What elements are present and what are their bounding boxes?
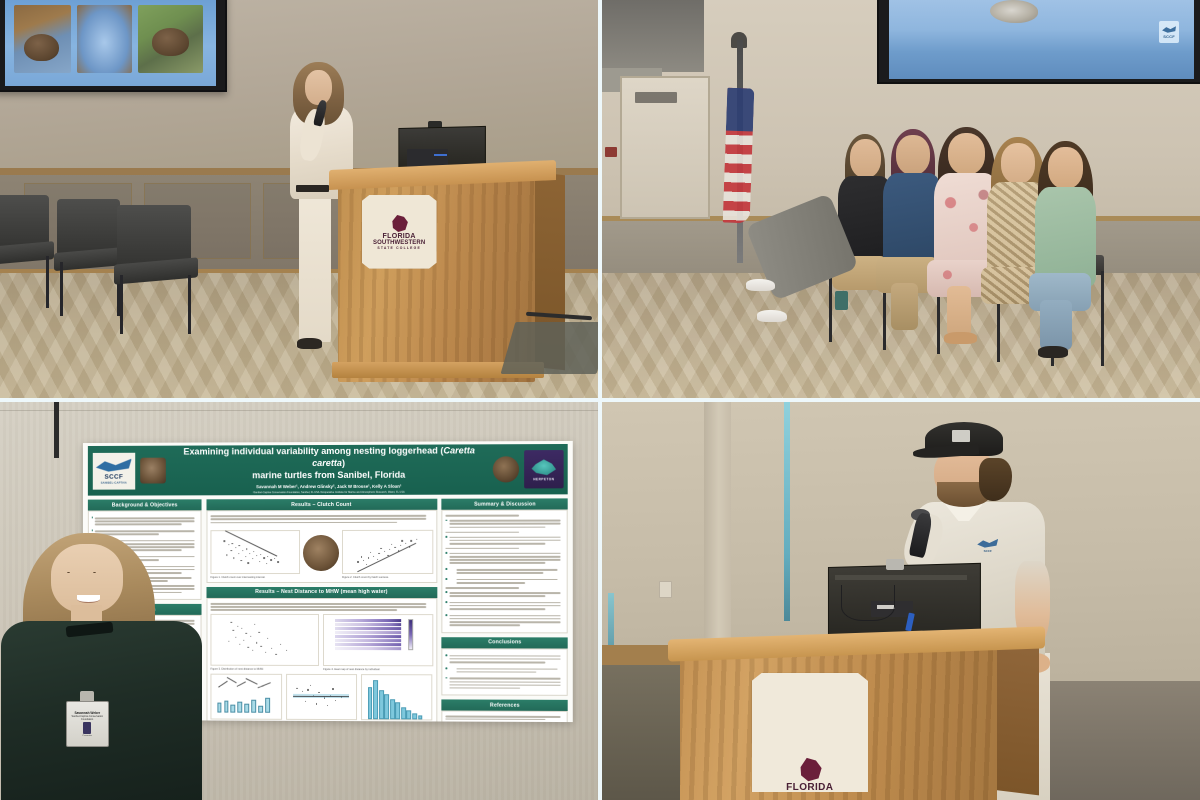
figure-4-caption: Figure 4. Heat map of nest distance by i…	[323, 668, 433, 672]
ceiling-soffit	[602, 0, 704, 72]
poster-authors: Savannah M Weber¹, Andrew Glinsky², Jack…	[170, 484, 487, 490]
microphone-clip	[886, 559, 904, 569]
green-sweater-torso	[1035, 187, 1096, 286]
monitor-bezel	[835, 575, 967, 580]
herpeton-logo: HERPETON	[524, 450, 563, 488]
podium-plaque: FLORIDA SOUTHWESTERN STATE COLLEGE	[362, 195, 437, 269]
sccf-logo: SCCF SANIBEL-CAPTIVA	[92, 452, 135, 489]
projection-screen-frame	[0, 0, 227, 92]
microphone-cable	[841, 585, 895, 621]
figure-3-container: Figure 3. Distribution of nest distance …	[210, 614, 319, 671]
section-header-summary: Summary & Discussion	[441, 498, 567, 509]
sneaker	[757, 310, 787, 322]
projection-screen-frame: SCCF	[877, 0, 1200, 84]
accent-light-strip	[608, 593, 614, 649]
projection-screen-left	[5, 0, 216, 86]
poster-column-middle: Results – Clutch Count	[206, 499, 436, 717]
lecture-room-scene: FLORIDA SOUTHWESTERN STATE COLLEGE	[0, 0, 598, 398]
plaque-florida-text: FLORIDA	[383, 233, 416, 240]
herpeton-logo-text: HERPETON	[533, 477, 554, 481]
accent-light-strip	[784, 402, 790, 621]
photo-panel-top-left: FLORIDA SOUTHWESTERN STATE COLLEGE	[0, 0, 598, 398]
photo-panel-bottom-left: SCCF SANIBEL-CAPTIVA Examining individua…	[0, 402, 598, 800]
wall-column	[704, 402, 731, 641]
panel-discussion-scene: SCCF	[602, 0, 1200, 398]
figure-2-container: Figure 2. Clutch count by hatch success.	[342, 526, 433, 579]
jeans-shin	[1040, 300, 1072, 350]
projection-screen-right: SCCF	[889, 0, 1194, 79]
turtle-icon	[530, 457, 557, 476]
speaker-belt	[296, 185, 329, 192]
section-conclusions: Conclusions	[441, 637, 567, 696]
poster-title-block: Examining individual variability among n…	[166, 446, 493, 495]
cap-logo-icon	[952, 430, 970, 442]
sandal	[944, 332, 977, 344]
poster-column-right: Summary & Discussion	[441, 498, 567, 717]
figure-5-boxplot	[210, 674, 281, 720]
bird-icon	[1162, 25, 1176, 33]
boot	[1038, 346, 1068, 358]
plaque-state-college-text: STATE COLLEGE	[377, 247, 421, 250]
face	[1001, 143, 1035, 184]
poster-title-part1-end: )	[342, 458, 345, 468]
section-header-background: Background & Objectives	[87, 499, 201, 510]
sccf-polo-text: SCCF	[984, 549, 992, 553]
chair-leg	[120, 275, 123, 334]
bird-icon	[96, 457, 132, 473]
bird-icon	[977, 538, 998, 549]
shin	[891, 283, 919, 331]
figure-2-caption: Figure 2. Clutch count by hatch success.	[342, 576, 433, 579]
chair-back	[117, 205, 191, 266]
header-turtle-photo	[140, 458, 166, 484]
buccaneer-mascot-icon	[389, 213, 408, 232]
chair-leg	[1101, 271, 1104, 367]
badge-role-text: Presenter	[83, 735, 92, 737]
slide-image-turtle-dune	[138, 5, 203, 74]
turtle-shape	[152, 28, 189, 55]
presenter-face	[51, 544, 123, 613]
chair-leg	[188, 275, 191, 334]
figure-5-container: Figure 5. Boxplot of nest distance to MH…	[210, 674, 281, 722]
photo-panel-bottom-right: SCCF	[602, 402, 1200, 800]
panelist-5	[1033, 147, 1099, 354]
figure-1-container: Figure 1. Clutch count over internesting…	[210, 526, 300, 579]
figure-4-heatmap	[323, 614, 433, 666]
conference-name-badge: Savannah Weber Sanibel-Captiva Conservat…	[66, 701, 109, 746]
section-clutch-count: Results – Clutch Count	[206, 499, 436, 583]
poster-title-part1: Examining individual variability among n…	[183, 446, 443, 457]
speaker-legs	[299, 191, 331, 342]
poster-board-pole	[54, 402, 59, 458]
sccf-polo-logo: SCCF	[973, 533, 1003, 557]
figure-6-scatter	[285, 674, 356, 720]
sccf-logo-subtext: SANIBEL-CAPTIVA	[100, 482, 126, 485]
united-states-flag-icon	[722, 87, 754, 223]
slide-image-turtle-track	[77, 5, 132, 74]
section-header-clutch-count: Results – Clutch Count	[206, 499, 436, 511]
sccf-logo-text: SCCF	[104, 474, 123, 481]
crossed-leg	[947, 286, 971, 336]
stacking-chair	[0, 195, 54, 306]
section-header-conclusions: Conclusions	[441, 637, 567, 648]
face	[948, 133, 985, 174]
speaker-shoe	[297, 338, 322, 349]
speaker-podium-scene: SCCF	[602, 402, 1200, 800]
section-header-nest-distance: Results – Nest Distance to MHW (mean hig…	[206, 587, 436, 598]
figure-1-caption: Figure 1. Clutch count over internesting…	[210, 576, 300, 579]
light-switch-plate	[659, 581, 672, 598]
section-nest-distance: Results – Nest Distance to MHW (mean hig…	[206, 587, 436, 722]
figure-4-container: Figure 4. Heat map of nest distance by i…	[323, 614, 433, 672]
figure-7-histogram	[361, 674, 433, 720]
section-summary: Summary & Discussion	[441, 498, 567, 633]
section-body-clutch-count: Figure 1. Clutch count over internesting…	[206, 510, 436, 583]
face	[850, 139, 881, 177]
chair-leg	[60, 262, 63, 315]
floor-mat	[501, 322, 598, 374]
center-turtle-photo	[303, 535, 339, 571]
door-sign	[635, 92, 677, 104]
poster-title-line2: marine turtles from Sanibel, Florida	[252, 469, 405, 480]
figure-7-container: Figure 7. Histogram of nest distance fre…	[361, 674, 433, 721]
sneaker	[746, 279, 776, 291]
badge-org-text: Sanibel-Captiva Conservation Foundation	[69, 716, 106, 722]
figure-2-scatter	[342, 530, 433, 574]
status-led	[434, 154, 447, 157]
drink-cup	[835, 291, 848, 311]
poster-title: Examining individual variability among n…	[170, 446, 487, 482]
poster-affiliations: ¹Sanibel-Captiva Conservation Foundation…	[170, 491, 487, 495]
poster-session-scene: SCCF SANIBEL-CAPTIVA Examining individua…	[0, 402, 598, 800]
face	[1048, 147, 1082, 188]
chair-back	[0, 195, 49, 248]
podium-plaque: FLORIDA SOUTHWESTERN STATE COLLEGE	[752, 673, 869, 792]
slide-image-turtle-beach	[14, 5, 71, 74]
plaque-southwestern-text: SOUTHWESTERN	[373, 240, 425, 246]
face	[896, 135, 930, 175]
wall-seam	[0, 410, 598, 411]
photo-panel-top-right: SCCF	[602, 0, 1200, 398]
photo-collage: FLORIDA SOUTHWESTERN STATE COLLEGE	[0, 0, 1200, 800]
figure-1-scatter	[210, 530, 300, 574]
poster-presenter: Savannah Weber Sanibel-Captiva Conservat…	[12, 533, 191, 800]
badge-photo	[83, 722, 91, 734]
sccf-watermark-logo: SCCF	[1159, 21, 1179, 43]
chair-leg	[46, 256, 49, 307]
section-body-nest-distance: Figure 3. Distribution of nest distance …	[206, 598, 436, 722]
section-references: References	[441, 700, 567, 722]
figure-3-scatter	[210, 614, 319, 666]
section-body-conclusions	[441, 648, 567, 696]
sccf-watermark-text: SCCF	[1163, 34, 1175, 39]
presenter-smile	[77, 595, 100, 603]
poster-header: SCCF SANIBEL-CAPTIVA Examining individua…	[87, 444, 567, 496]
section-body-references	[441, 711, 567, 722]
exit-sign	[605, 147, 617, 157]
chair-back	[57, 199, 120, 254]
header-turtle-photo-2	[492, 456, 519, 482]
section-header-references: References	[441, 700, 567, 712]
buccaneer-mascot-icon	[797, 756, 823, 782]
sea-turtle-shape	[990, 0, 1039, 23]
speaker-face	[305, 70, 333, 106]
figure-6-container: Figure 6. Nest distance average and vari…	[285, 674, 356, 722]
figure-3-caption: Figure 3. Distribution of nest distance …	[210, 667, 319, 671]
section-body-summary	[441, 509, 567, 633]
stacking-chair	[114, 205, 198, 332]
turtle-shape	[24, 34, 59, 61]
